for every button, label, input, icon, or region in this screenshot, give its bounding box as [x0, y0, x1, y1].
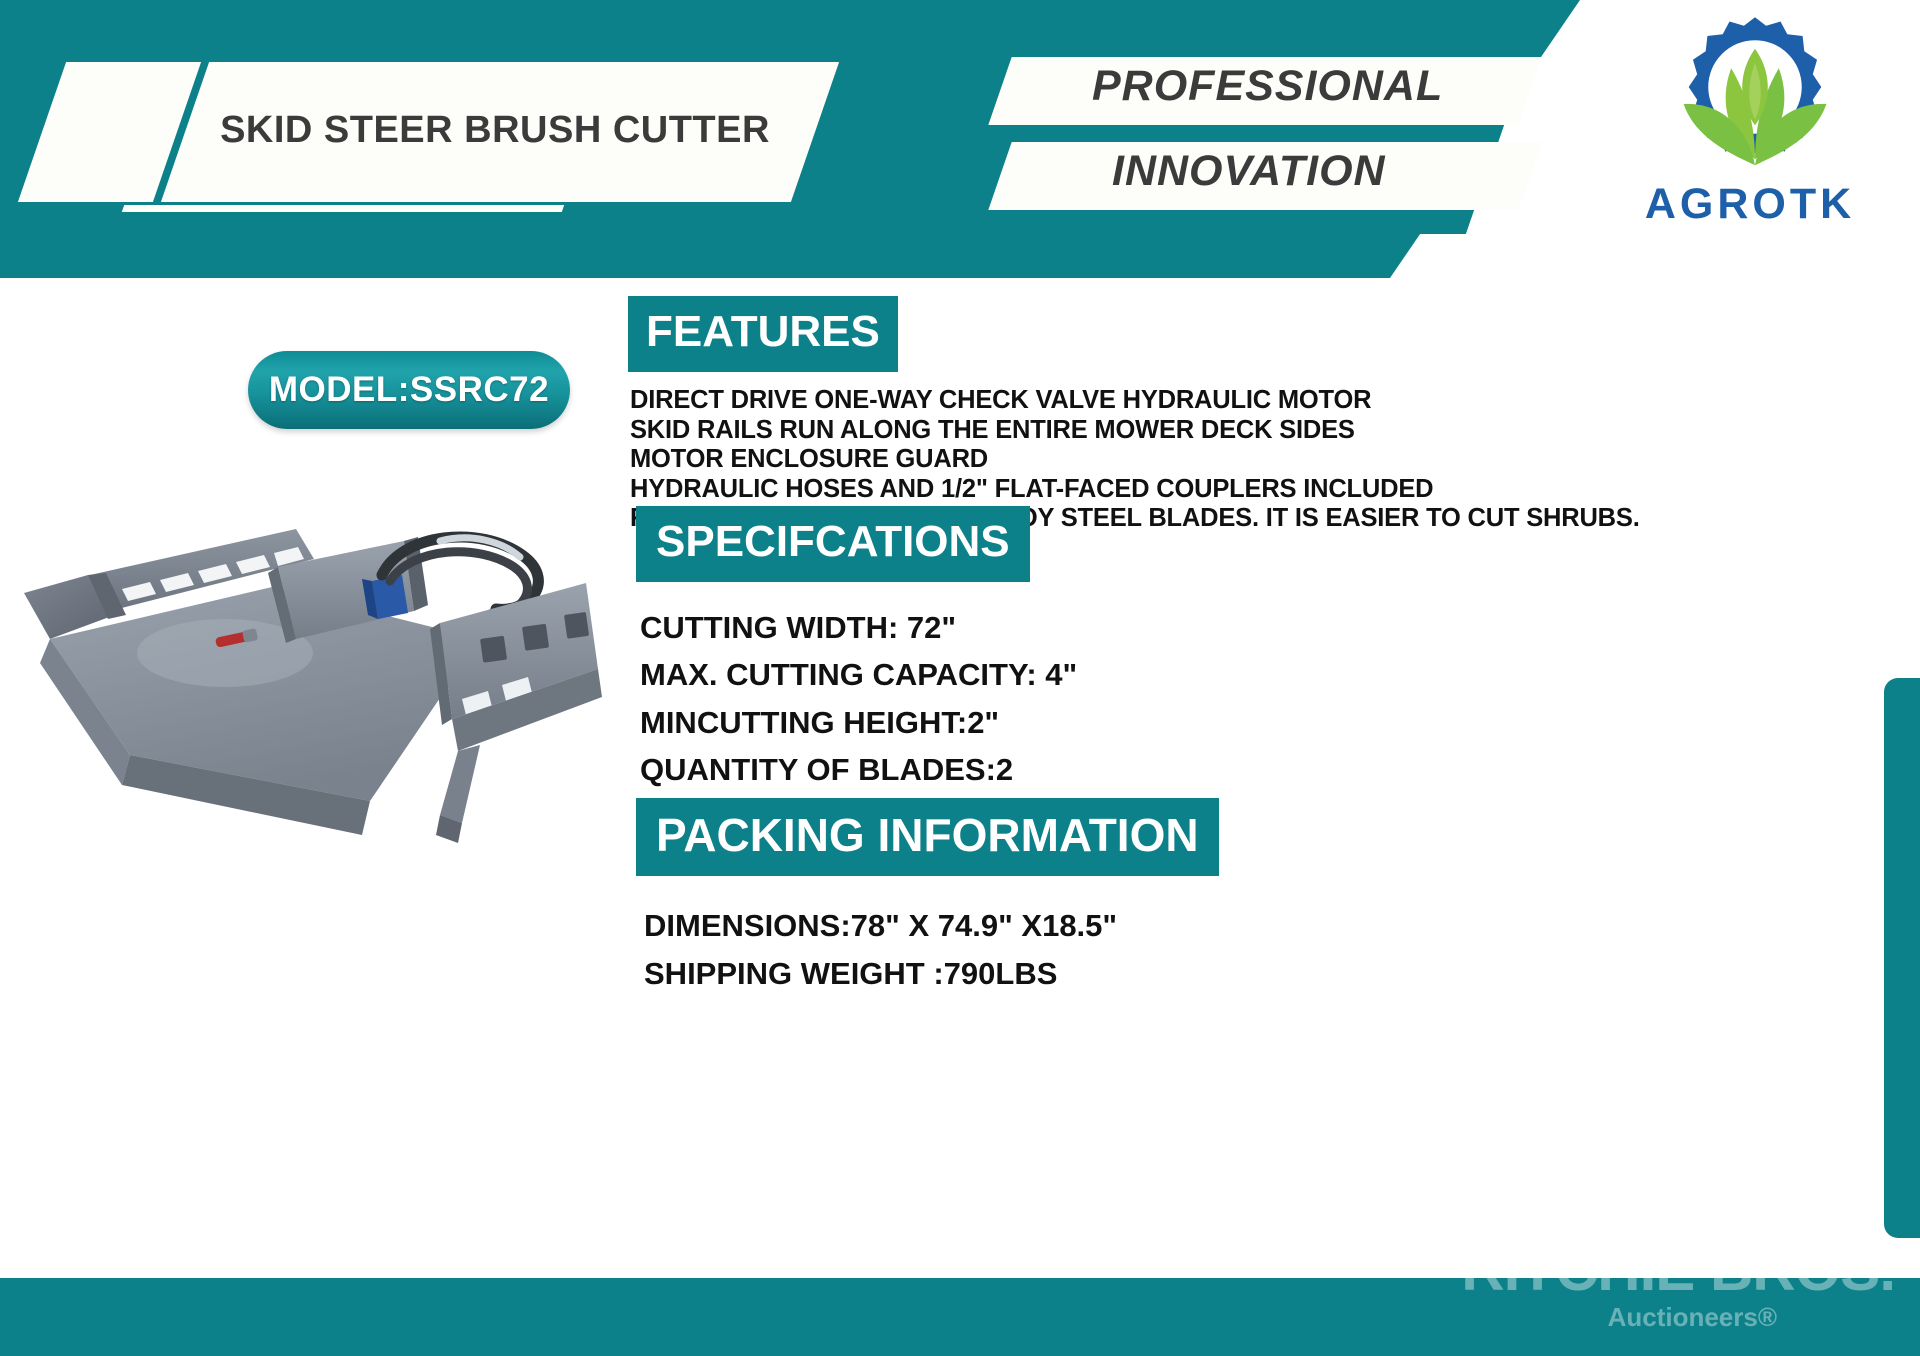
brand-logo: AGROTK — [1600, 8, 1900, 258]
features-heading: FEATURES — [628, 296, 898, 372]
feature-item: MOTOR ENCLOSURE GUARD — [630, 445, 1640, 475]
page-footer — [0, 1278, 1920, 1356]
packing-item: DIMENSIONS:78" X 74.9" X18.5" — [644, 902, 1219, 950]
brand-wordmark: AGROTK — [1600, 180, 1900, 229]
main-content: MODEL:SSRC72 — [0, 278, 1920, 1278]
tagline-banner-shadow-2 — [986, 210, 1474, 234]
feature-item: HYDRAULIC HOSES AND 1/2" FLAT-FACED COUP… — [630, 475, 1640, 505]
packing-block: PACKING INFORMATION DIMENSIONS:78" X 74.… — [636, 798, 1219, 998]
title-ribbon-underline — [122, 205, 564, 212]
packing-heading: PACKING INFORMATION — [636, 798, 1219, 876]
spec-item: MAX. CUTTING CAPACITY: 4" — [640, 651, 1077, 698]
model-badge: MODEL:SSRC72 — [248, 351, 570, 429]
model-badge-label: MODEL:SSRC72 — [269, 370, 549, 410]
gear-leaf-logo-icon — [1670, 8, 1840, 183]
packing-list: DIMENSIONS:78" X 74.9" X18.5" SHIPPING W… — [644, 902, 1219, 998]
spec-item: CUTTING WIDTH: 72" — [640, 604, 1077, 651]
feature-item: DIRECT DRIVE ONE-WAY CHECK VALVE HYDRAUL… — [630, 386, 1640, 416]
page-title: SKID STEER BRUSH CUTTER — [185, 78, 805, 183]
spec-item: MINCUTTING HEIGHT:2" — [640, 699, 1077, 746]
features-block: FEATURES DIRECT DRIVE ONE-WAY CHECK VALV… — [628, 296, 1640, 534]
spec-item: QUANTITY OF BLADES:2 — [640, 746, 1077, 793]
packing-item: SHIPPING WEIGHT :790LBS — [644, 950, 1219, 998]
page-header: SKID STEER BRUSH CUTTER PROFESSIONAL INN… — [0, 0, 1920, 278]
feature-item: SKID RAILS RUN ALONG THE ENTIRE MOWER DE… — [630, 416, 1640, 446]
tagline-innovation: INNOVATION — [1112, 147, 1386, 196]
product-image-brush-cutter — [10, 463, 630, 883]
right-side-tab — [1884, 678, 1920, 1238]
tagline-professional: PROFESSIONAL — [1092, 62, 1443, 111]
specifications-heading: SPECIFCATIONS — [636, 506, 1030, 582]
